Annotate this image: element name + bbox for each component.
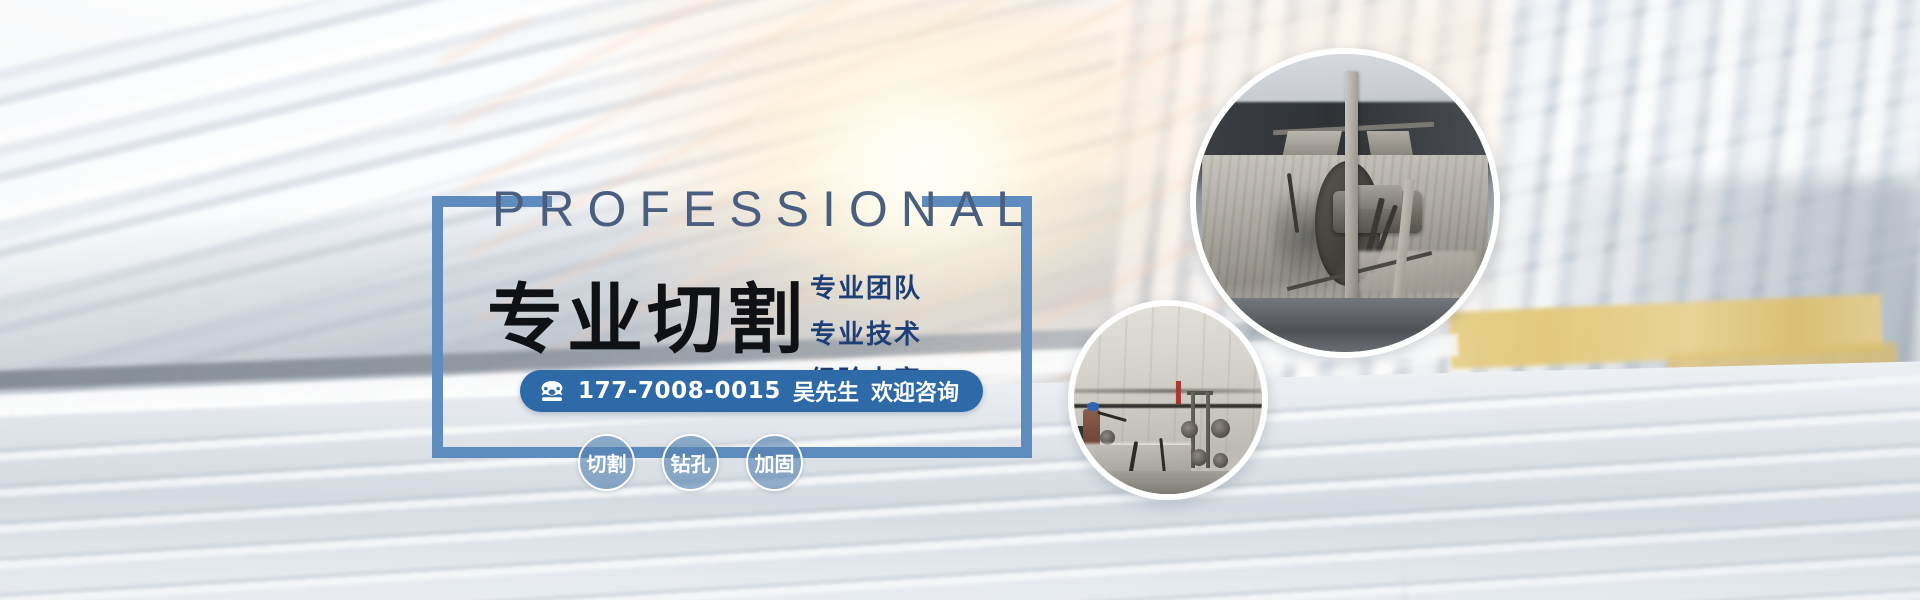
photo-sub-blade-wheel-2 (1211, 419, 1230, 438)
photo-main-chute-right (1366, 131, 1412, 158)
contact-person: 吴先生 (793, 375, 859, 407)
phone-number: 177-7008-0015 (578, 378, 781, 404)
service-tag-cutting[interactable]: 切割 (578, 434, 635, 491)
photo-sub-worker-helmet (1087, 402, 1099, 411)
photo-sub-rail-pipe (1074, 404, 1262, 408)
background-vignette (0, 0, 1920, 600)
eyebrow-text: PROFESSIONAL (492, 180, 1037, 238)
telephone-icon (538, 377, 566, 405)
consult-cta-text: 欢迎咨询 (871, 375, 959, 407)
photo-sub-content (1074, 306, 1262, 494)
service-tag-list: 切割 钻孔 加固 (578, 434, 803, 491)
photo-sub-worker-body (1083, 409, 1100, 447)
background-highway-image (0, 0, 1920, 600)
photo-sub-blade-wheel-3 (1191, 449, 1208, 466)
photo-sub-red-marker (1176, 381, 1182, 404)
page-title: 专业切割 (487, 258, 807, 368)
photo-main-chute-left (1283, 131, 1342, 158)
promo-banner: PROFESSIONAL 专业切割 专业团队 专业技术 经验丰富 177-700… (0, 0, 1920, 600)
service-tag-reinforcing[interactable]: 加固 (746, 434, 803, 491)
photo-worker-wall-saw-site (1068, 300, 1268, 500)
feature-item-1: 专业团队 (810, 268, 922, 305)
photo-sub-floor (1074, 471, 1262, 494)
photo-sub-blade-wheel-4 (1213, 453, 1228, 468)
service-tag-drilling[interactable]: 钻孔 (662, 434, 719, 491)
feature-item-2: 专业技术 (810, 314, 922, 351)
contact-phone-bar[interactable]: 177-7008-0015 吴先生 欢迎咨询 (520, 370, 983, 412)
photo-sub-wall-seam (1074, 389, 1262, 394)
photo-sub-blade-wheel-1 (1181, 421, 1198, 438)
